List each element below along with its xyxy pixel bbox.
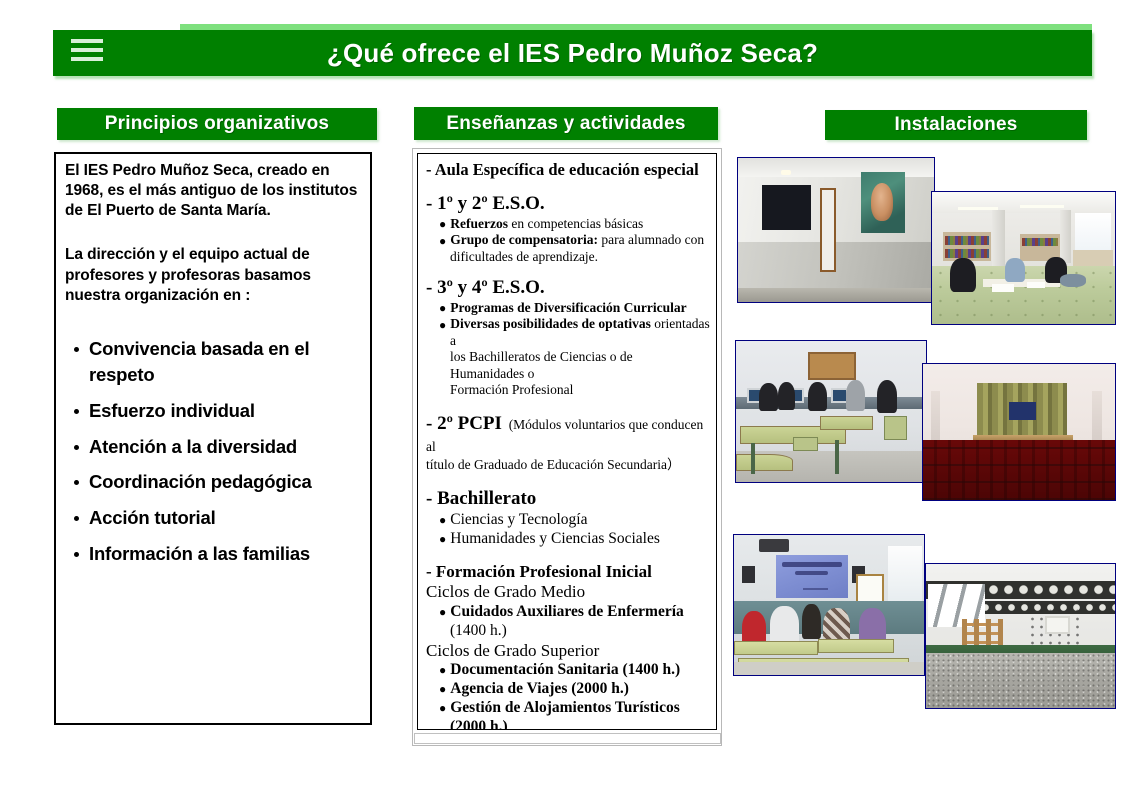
theatre-side-right — [1092, 391, 1102, 443]
library-column-2 — [1060, 210, 1071, 263]
hall-door — [820, 188, 836, 272]
desk-2 — [820, 416, 873, 430]
item-strong: Cuidados Auxiliares de Enfermería — [450, 603, 684, 620]
page-title: ¿Qué ofrece el IES Pedro Muñoz Seca? — [53, 30, 1092, 76]
slide-title-line-2 — [795, 571, 828, 575]
column-header-instalaciones: Instalaciones — [825, 110, 1087, 140]
library-papers-2 — [1027, 282, 1045, 289]
photo-library — [931, 191, 1116, 325]
photo-hall-corridor — [737, 157, 935, 303]
section-title-eso-1-2: - 1º y 2º E.S.O. — [426, 193, 710, 215]
student-3 — [808, 382, 827, 412]
item-continuation: dificultades de aprendizaje. — [426, 249, 710, 265]
list-item: ●Grupo de compensatoria: para alumnado c… — [426, 232, 710, 248]
item-continuation-2: Formación Profesional — [426, 382, 710, 398]
pcpi-label: - 2º PCPI — [426, 413, 502, 434]
item-rest: Humanidades y Ciencias Sociales — [450, 530, 660, 547]
library-books-1 — [945, 236, 989, 245]
library-student-2 — [1005, 258, 1025, 282]
chair-1 — [884, 416, 907, 440]
list-item: ●Gestión de Alojamientos Turísticos — [426, 699, 710, 718]
list-item: ●Ciencias y Tecnología — [426, 511, 710, 530]
projection-screen — [776, 555, 848, 598]
item-continuation: (1400 h.) — [426, 622, 710, 641]
list-item: Esfuerzo individual — [65, 398, 361, 425]
item-strong: Agencia de Viajes (2000 h.) — [450, 680, 629, 697]
list-item: Acción tutorial — [65, 505, 361, 532]
student-dark — [802, 604, 821, 639]
subsection-grado-medio: Ciclos de Grado Medio — [426, 582, 710, 602]
item-rest: Ciencias y Tecnología — [450, 511, 587, 528]
item-continuation: los Bachilleratos de Ciencias o de Human… — [426, 349, 710, 382]
intro-text-block: El IES Pedro Muñoz Seca, creado en 1968,… — [65, 161, 361, 306]
hall-portrait-painting — [861, 172, 904, 232]
pcpi-note-line2: título de Graduado de Educación Secundar… — [426, 457, 710, 474]
theatre-side-door-left — [931, 391, 941, 443]
ensenanzas-bottom-bar — [414, 733, 721, 744]
section-title-bachillerato: - Bachillerato — [426, 488, 710, 510]
list-item: ●Programas de Diversificación Curricular — [426, 300, 710, 316]
list-item: ●Diversas posibilidades de optativas ori… — [426, 316, 710, 349]
slide-title-line — [782, 562, 843, 567]
classroom-floor — [734, 662, 924, 675]
student-4 — [846, 380, 865, 411]
library-light-1 — [958, 207, 998, 210]
list-item: ●Agencia de Viajes (2000 h.) — [426, 680, 710, 699]
student-1 — [759, 383, 778, 411]
desk-leg-2 — [835, 440, 839, 474]
item-strong: Grupo de compensatoria: — [450, 232, 598, 247]
item-strong: Gestión de Alojamientos Turísticos — [450, 699, 680, 716]
theatre-seats — [923, 440, 1115, 500]
student-2 — [778, 382, 795, 410]
list-item: Convivencia basada en el respeto — [65, 336, 361, 389]
library-books-3 — [1022, 238, 1059, 246]
slide-footer-line — [803, 588, 828, 590]
library-bag — [1060, 274, 1086, 287]
section-title-fp-inicial: - Formación Profesional Inicial — [426, 562, 710, 582]
item-continuation: (2000 h.) — [426, 718, 710, 730]
theatre-projection-screen — [1009, 402, 1036, 420]
section-title-pcpi: - 2º PCPI (Módulos voluntarios que condu… — [426, 413, 710, 458]
library-ceiling — [932, 192, 1115, 213]
library-column-1 — [992, 210, 1005, 265]
item-strong: Refuerzos — [450, 216, 508, 231]
desk-leg-1 — [751, 443, 755, 474]
item-rest: para alumnado con — [598, 232, 704, 247]
classroom-desk-1 — [734, 641, 818, 655]
header-bar: ¿Qué ofrece el IES Pedro Muñoz Seca? — [53, 30, 1092, 76]
classroom-window — [888, 546, 922, 605]
item-rest: en competencias básicas — [508, 216, 643, 231]
column-header-principios: Principios organizativos — [57, 108, 377, 140]
chair-2 — [793, 437, 818, 451]
library-light-2 — [1020, 205, 1064, 208]
gym-scene — [926, 564, 1115, 708]
item-strong: Programas de Diversificación Curricular — [450, 300, 686, 315]
hall-scene — [738, 158, 934, 302]
student-5 — [877, 380, 898, 412]
gym-floor — [926, 653, 1115, 708]
speaker-left — [742, 566, 755, 583]
library-student-1 — [950, 258, 976, 292]
subsection-grado-superior: Ciclos de Grado Superior — [426, 641, 710, 661]
projector-icon — [759, 539, 789, 552]
classroom-scene — [734, 535, 924, 675]
classroom-desk-2 — [818, 639, 894, 653]
item-strong: Diversas posibilidades de optativas — [450, 316, 651, 331]
library-window — [1075, 213, 1112, 255]
gym-basketball-hoop — [1045, 616, 1070, 634]
library-books-2 — [945, 249, 989, 258]
photo-gymnasium — [925, 563, 1116, 709]
list-item: ●Cuidados Auxiliares de Enfermería — [426, 603, 710, 622]
ensenanzas-y-actividades-panel: - Aula Específica de educación especial … — [417, 153, 717, 730]
hall-ceiling — [738, 158, 934, 177]
photo-theatre-hall — [922, 363, 1116, 501]
intro-paragraph-1: El IES Pedro Muñoz Seca, creado en 1968,… — [65, 161, 361, 221]
theatre-scene — [923, 364, 1115, 500]
library-papers-1 — [992, 284, 1014, 292]
computer-room-corkboard — [808, 352, 856, 380]
photo-computer-classroom — [735, 340, 927, 483]
library-scene — [932, 192, 1115, 324]
list-item: ●Humanidades y Ciencias Sociales — [426, 530, 710, 549]
section-title-eso-3-4: - 3º y 4º E.S.O. — [426, 277, 710, 299]
list-item: ●Refuerzos en competencias básicas — [426, 216, 710, 232]
intro-paragraph-2: La dirección y el equipo actual de profe… — [65, 245, 361, 305]
column-header-ensenanzas: Enseñanzas y actividades — [414, 107, 718, 140]
list-item: Información a las familias — [65, 541, 361, 568]
hall-ceiling-light — [781, 170, 791, 176]
photo-classroom-projector — [733, 534, 925, 676]
principios-organizativos-panel: El IES Pedro Muñoz Seca, creado en 1968,… — [54, 152, 372, 725]
principles-list: Convivencia basada en el respeto Esfuerz… — [65, 336, 361, 567]
section-title-aula-especifica: - Aula Específica de educación especial — [426, 160, 710, 179]
computer-classroom-scene — [736, 341, 926, 482]
desk-3 — [736, 454, 793, 471]
hall-floor — [738, 288, 934, 302]
list-item: Coordinación pedagógica — [65, 469, 361, 496]
list-item: Atención a la diversidad — [65, 434, 361, 461]
item-strong: Documentación Sanitaria (1400 h.) — [450, 661, 680, 678]
list-item: ●Documentación Sanitaria (1400 h.) — [426, 661, 710, 680]
hall-chalkboard — [762, 185, 811, 230]
